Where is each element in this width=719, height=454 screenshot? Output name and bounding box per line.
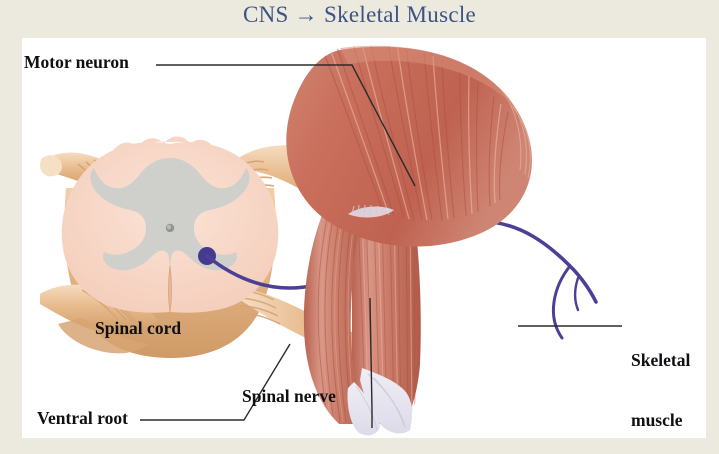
slide-root: CNS → Skeletal Muscle [0, 0, 719, 454]
label-skeletal-muscle-line2: muscle [631, 410, 690, 430]
label-ventral-root-line1: Ventral root [37, 408, 147, 428]
label-skeletal-muscle-line1: Skeletal [631, 350, 690, 370]
ventral-median-fissure [169, 266, 172, 312]
axon-terminal-branch-1 [553, 266, 570, 338]
label-skeletal-muscle: Skeletal muscle [631, 310, 690, 454]
skeletal-muscle-group [286, 40, 532, 435]
label-ventral-root: Ventral root of spinal nerve [37, 368, 147, 454]
axon-terminal-branch-2 [575, 278, 578, 310]
central-canal-highlight [167, 225, 171, 229]
muscle-belly [286, 47, 532, 247]
label-motor-neuron: Motor neuron [24, 52, 129, 72]
page-title: CNS → Skeletal Muscle [0, 2, 719, 28]
label-spinal-cord: Spinal cord [95, 318, 181, 338]
label-spinal-nerve: Spinal nerve [242, 386, 336, 406]
figure-panel: Motor neuron Spinal cord Ventral root of… [22, 38, 706, 438]
